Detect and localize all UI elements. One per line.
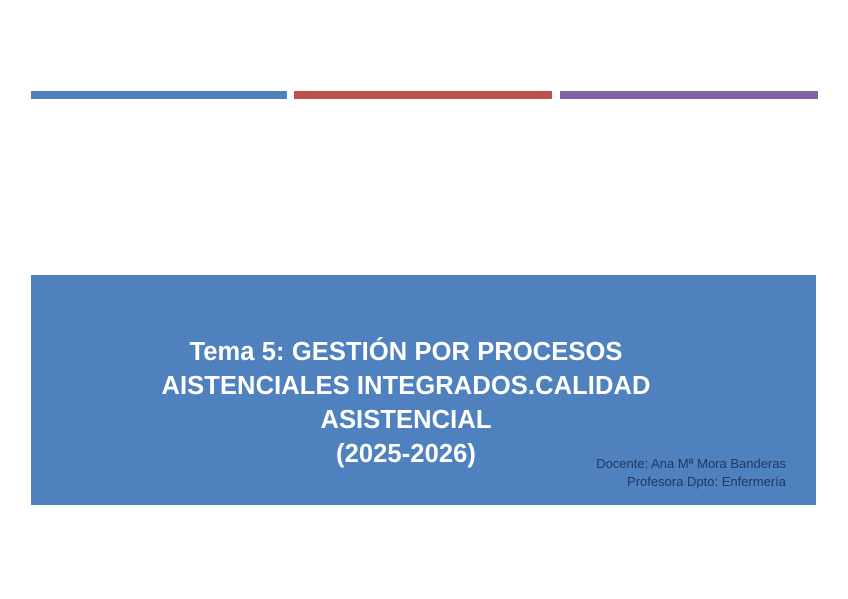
slide-title: Tema 5: GESTIÓN POR PROCESOS AISTENCIALE… bbox=[31, 335, 781, 471]
slide-title-line-3: ASISTENCIAL bbox=[31, 403, 781, 437]
presenter-name-line: Docente: Ana Mª Mora Banderas bbox=[536, 455, 786, 473]
slide-title-line-1: Tema 5: GESTIÓN POR PROCESOS bbox=[31, 335, 781, 369]
slide-canvas: Tema 5: GESTIÓN POR PROCESOS AISTENCIALE… bbox=[0, 0, 848, 599]
presenter-department-line: Profesora Dpto: Enfermería bbox=[536, 473, 786, 491]
accent-rule-red bbox=[294, 91, 552, 99]
presenter-info: Docente: Ana Mª Mora Banderas Profesora … bbox=[536, 455, 786, 491]
accent-rule-blue bbox=[31, 91, 287, 99]
slide-title-line-2: AISTENCIALES INTEGRADOS.CALIDAD bbox=[31, 369, 781, 403]
title-panel: Tema 5: GESTIÓN POR PROCESOS AISTENCIALE… bbox=[31, 275, 816, 505]
accent-rule-purple bbox=[560, 91, 818, 99]
accent-rule-group bbox=[0, 0, 848, 120]
